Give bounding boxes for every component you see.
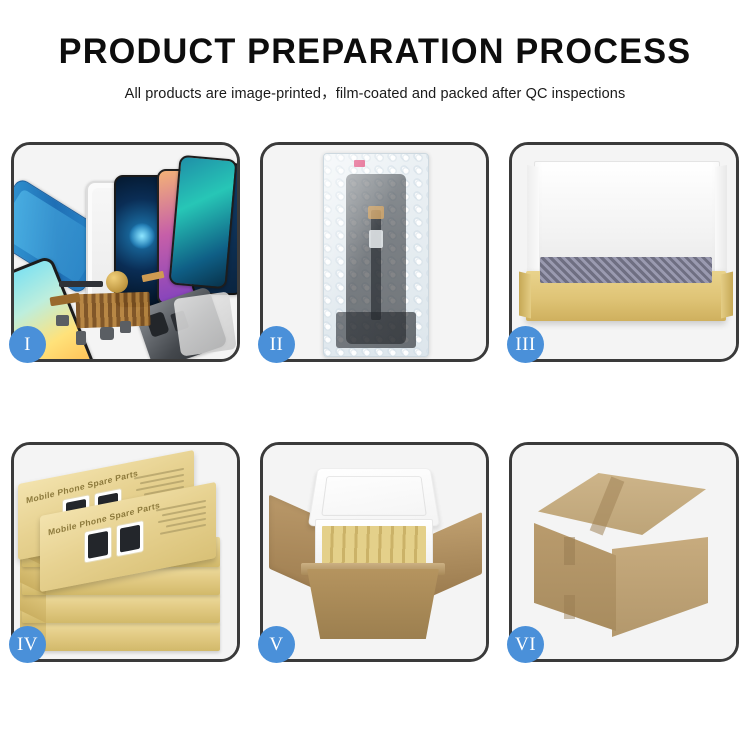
step-panel-1: I [11,142,240,362]
repair-tools [173,291,237,356]
small-component-c [100,327,114,340]
step-badge-6: VI [507,626,544,663]
small-component-d [120,321,131,333]
small-component-a [56,315,69,326]
step-panel-6: VI [509,442,739,662]
carton-tape-lower [564,595,575,619]
screw-tray-part [75,292,150,329]
bubble-wrap-package [323,153,429,357]
step-panel-4: Mobile Phone Spare Parts Mobile Phone Sp… [11,442,240,662]
step-panel-2: II [260,142,489,362]
gold-box-base [526,271,726,321]
header: PRODUCT PREPARATION PROCESS All products… [0,0,750,103]
box-screen-image-d [116,520,144,557]
box-screen-image-c [84,526,112,563]
stacked-box-5 [22,621,220,651]
small-component-b [76,331,86,345]
gold-coil-part [106,271,128,293]
teal-phone [168,155,237,290]
stacked-box-4 [22,593,220,623]
carton-flap-right [432,512,482,596]
battery-strip-part [59,281,103,287]
step-panel-3: III [509,142,739,362]
step-6-image [512,445,736,659]
step-5-image [263,445,486,659]
product-preparation-infographic: PRODUCT PREPARATION PROCESS All products… [0,0,750,750]
step-badge-2: II [258,326,295,363]
carton-side-face [612,537,708,637]
carton-front-face [534,523,616,631]
step-badge-3: III [507,326,544,363]
carton-tape-upper [564,537,575,565]
process-step-grid: I II [11,142,739,662]
step-badge-5: V [258,626,295,663]
step-4-image: Mobile Phone Spare Parts Mobile Phone Sp… [14,445,237,659]
foam-box-lid-open [308,468,440,526]
grey-foam-padding [540,257,712,283]
step-badge-1: I [9,326,46,363]
page-title: PRODUCT PREPARATION PROCESS [8,34,743,71]
step-3-image [512,145,736,359]
box-left-lip [519,272,531,319]
page-subtitle: All products are image-printed，film-coat… [0,82,750,103]
plastic-sheen [324,154,428,356]
gold-box-stack: Mobile Phone Spare Parts Mobile Phone Sp… [14,445,237,659]
step-1-image [14,145,237,359]
carton-body [307,569,439,639]
box-right-lip [721,272,733,319]
gold-boxes-inside [322,526,426,565]
step-2-image [263,145,486,359]
step-panel-5: V [260,442,489,662]
step-badge-4: IV [9,626,46,663]
